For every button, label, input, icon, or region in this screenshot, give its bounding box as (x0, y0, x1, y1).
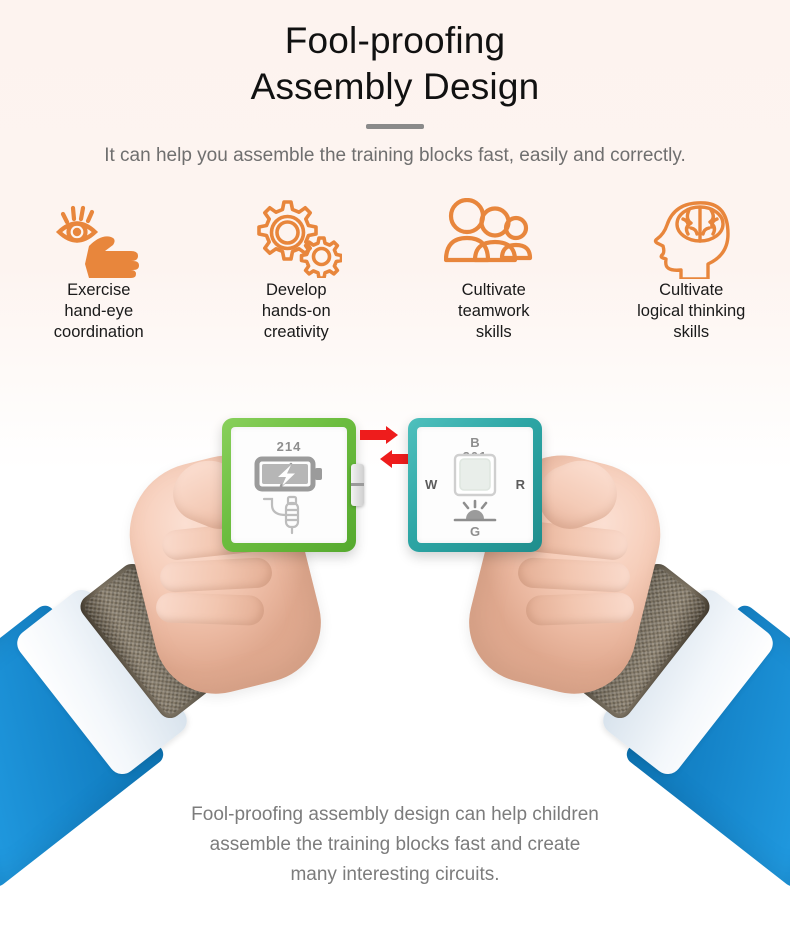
feature-label: Cultivate logical thinking skills (593, 280, 790, 343)
page-title-line1: Fool-proofing (285, 20, 506, 61)
battery-charging-icon (257, 459, 322, 489)
left-finger (156, 592, 265, 626)
page-subtitle: It can help you assemble the training bl… (0, 143, 790, 168)
feature-label: Exercise hand-eye coordination (0, 280, 198, 343)
usb-cable-icon (264, 497, 298, 533)
feature-item-creativity: Develop hands-on creativity (198, 196, 396, 343)
green-block-code: 214 (231, 439, 347, 454)
teal-light-block[interactable]: B 201 W R G (408, 418, 542, 552)
header: Fool-proofing Assembly Design It can hel… (0, 0, 790, 168)
square-button-icon (455, 455, 495, 495)
right-finger (517, 557, 630, 593)
head-brain-icon (593, 196, 790, 280)
page-title: Fool-proofing Assembly Design (0, 0, 790, 110)
arrow-right-icon (360, 426, 398, 444)
teal-block-face: B 201 W R G (417, 427, 533, 543)
page-root: Fool-proofing Assembly Design It can hel… (0, 0, 790, 940)
page-title-line2: Assembly Design (251, 66, 540, 107)
feature-item-teamwork: Cultivate teamwork skills (395, 196, 593, 343)
feature-item-logic: Cultivate logical thinking skills (593, 196, 790, 343)
right-hand-holding-block (496, 520, 790, 820)
feature-item-hand-eye: Exercise hand-eye coordination (0, 196, 198, 343)
gears-icon (198, 196, 396, 280)
eye-hand-icon (0, 196, 198, 280)
feature-label: Develop hands-on creativity (198, 280, 396, 343)
left-hand-holding-block (0, 520, 294, 820)
right-finger (526, 592, 635, 626)
green-block-face: 214 (231, 427, 347, 543)
feature-label: Cultivate teamwork skills (395, 280, 593, 343)
hands-scene: 214 (0, 360, 790, 820)
lamp-glow-icon (455, 501, 495, 520)
left-finger (159, 557, 272, 593)
teal-block-letter: B (417, 435, 533, 450)
people-icon (395, 196, 593, 280)
feature-list: Exercise hand-eye coordination Develop h… (0, 196, 790, 343)
green-battery-block[interactable]: 214 (222, 418, 356, 552)
footer-caption: Fool-proofing assembly design can help c… (0, 800, 790, 890)
title-divider (366, 124, 424, 129)
